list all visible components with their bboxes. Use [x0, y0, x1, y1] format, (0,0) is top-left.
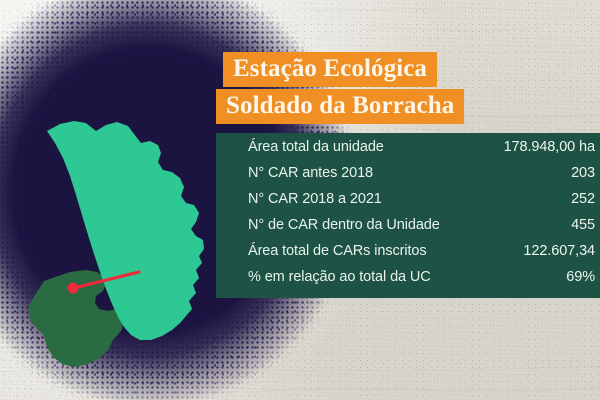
infographic-canvas: Estação Ecológica Soldado da Borracha Ár…	[0, 0, 600, 400]
row-label: N° CAR antes 2018	[248, 165, 373, 181]
table-row: N° CAR antes 2018 203	[248, 165, 595, 191]
table-row: N° de CAR dentro da Unidade 455	[248, 217, 595, 243]
row-value: 178.948,00 ha	[504, 139, 595, 155]
row-value: 122.607,34	[523, 243, 595, 259]
title-line-1: Estação Ecológica	[223, 52, 437, 87]
title-line-2: Soldado da Borracha	[216, 89, 464, 124]
title-block: Estação Ecológica Soldado da Borracha	[216, 52, 464, 124]
location-marker	[68, 283, 79, 294]
row-label: % em relação ao total da UC	[248, 269, 431, 285]
row-label: N° de CAR dentro da Unidade	[248, 217, 440, 233]
table-row: N° CAR 2018 a 2021 252	[248, 191, 595, 217]
table-row: Área total da unidade 178.948,00 ha	[248, 139, 595, 165]
data-rows: Área total da unidade 178.948,00 ha N° C…	[248, 139, 595, 295]
row-label: Área total da unidade	[248, 139, 384, 155]
row-value: 455	[571, 217, 595, 233]
row-value: 252	[571, 191, 595, 207]
data-panel: Área total da unidade 178.948,00 ha N° C…	[216, 133, 600, 298]
row-value: 69%	[566, 269, 595, 285]
row-label: Área total de CARs inscritos	[248, 243, 427, 259]
table-row: % em relação ao total da UC 69%	[248, 269, 595, 295]
row-value: 203	[571, 165, 595, 181]
table-row: Área total de CARs inscritos 122.607,34	[248, 243, 595, 269]
row-label: N° CAR 2018 a 2021	[248, 191, 382, 207]
